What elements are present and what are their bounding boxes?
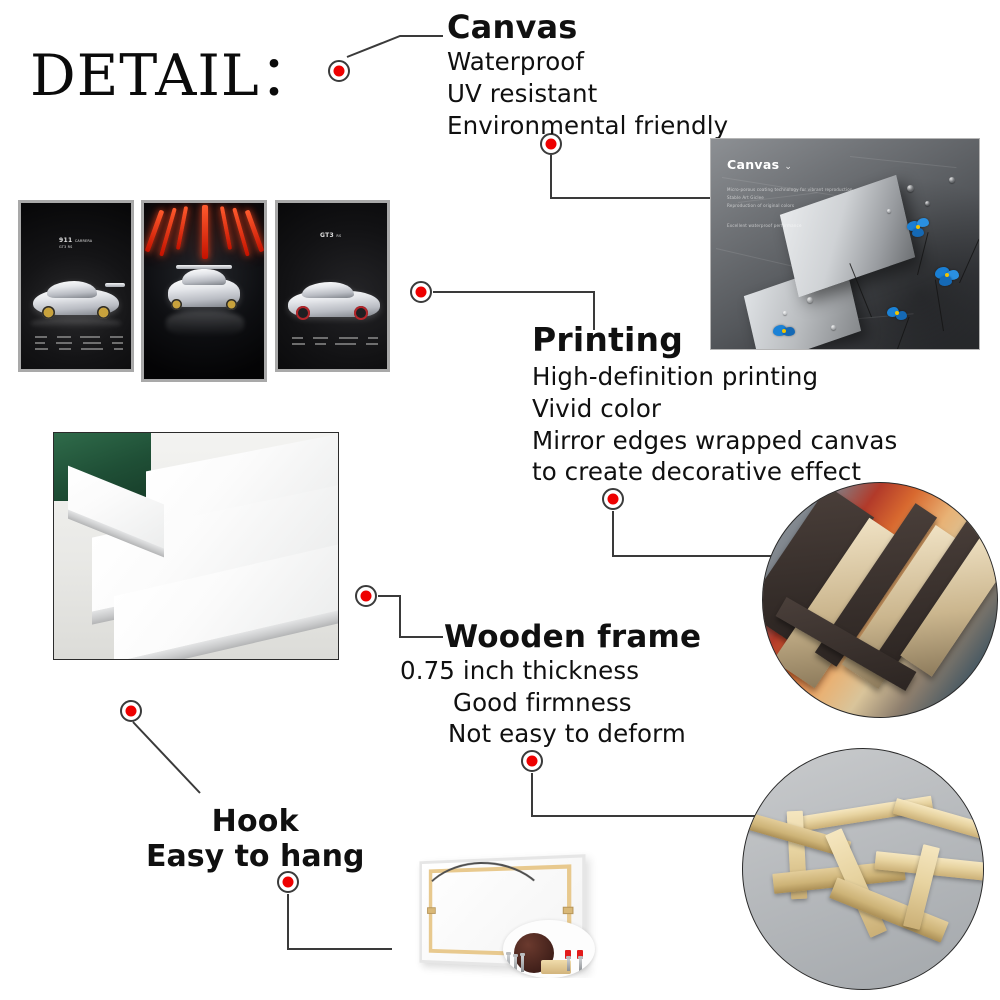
wooden-stretcher-bars-photo [742, 748, 984, 990]
callout-printing-line-4: to create decorative effect [532, 456, 897, 488]
callout-hook-heading: Hook [146, 805, 364, 839]
callout-canvas-line-3: Environmental friendly [447, 110, 728, 142]
callout-hook: Hook Easy to hang [146, 805, 364, 875]
canvas-material-photo: Canvas⌄ Micro-porous coating technology … [710, 138, 980, 350]
canvas-photo-line-1: Micro-porous coating technology for vibr… [727, 187, 853, 193]
callout-hook-line-1: Easy to hang [146, 839, 364, 876]
marker-hook[interactable] [120, 700, 142, 722]
leader-canvas-photo [551, 155, 712, 198]
blank-canvas-stack-photo [53, 432, 339, 660]
callout-canvas-line-1: Waterproof [447, 46, 728, 78]
callout-canvas: Canvas Waterproof UV resistant Environme… [447, 10, 728, 141]
hook-hardware-inset [503, 920, 595, 978]
callout-printing-line-3: Mirror edges wrapped canvas [532, 425, 897, 457]
chevron-down-icon: ⌄ [784, 162, 792, 172]
poster-panel-1: 911 CARRERAGT3 RS [18, 200, 134, 372]
callout-canvas-heading: Canvas [447, 10, 728, 46]
leader-canvas [347, 36, 443, 57]
infographic-canvas: DETAIL： Canvas Waterproof UV resistant E… [0, 0, 1000, 1000]
car-poster-triptych: 911 CARRERAGT3 RS [18, 200, 390, 382]
marker-printing[interactable] [410, 281, 432, 303]
page-title: DETAIL： [30, 48, 318, 105]
marker-canvas[interactable] [328, 60, 350, 82]
leader-printing-photo [613, 511, 790, 556]
callout-wooden-frame-heading: Wooden frame [444, 620, 701, 655]
canvas-back-hook-photo [395, 848, 617, 978]
marker-wooden-frame[interactable] [355, 585, 377, 607]
marker-printing-photo[interactable] [602, 488, 624, 510]
poster-panel-2 [141, 200, 267, 382]
callout-wooden-frame-line-2: Good firmness [453, 687, 701, 719]
leader-wooden-photo [532, 773, 760, 816]
leader-hook-photo [288, 894, 392, 949]
callout-printing-line-2: Vivid color [532, 393, 897, 425]
callout-wooden-frame-line-1: 0.75 inch thickness [400, 655, 701, 687]
canvas-photo-line-2: Stable Art Giclee [727, 195, 764, 201]
callout-wooden-frame: Wooden frame 0.75 inch thickness Good fi… [400, 620, 701, 750]
leader-hook [133, 722, 200, 793]
callout-wooden-frame-line-3: Not easy to deform [448, 718, 701, 750]
poster-panel-3: GT3 RS [275, 200, 390, 372]
printed-canvas-edges-photo [762, 482, 998, 718]
marker-wooden-photo[interactable] [521, 750, 543, 772]
callout-canvas-line-2: UV resistant [447, 78, 728, 110]
canvas-photo-line-4: Excellent waterproof performance [727, 223, 802, 229]
canvas-photo-line-3: Reproduction of original colors [727, 203, 794, 209]
callout-printing-line-1: High-definition printing [532, 361, 897, 393]
canvas-photo-title: Canvas⌄ [727, 157, 792, 172]
